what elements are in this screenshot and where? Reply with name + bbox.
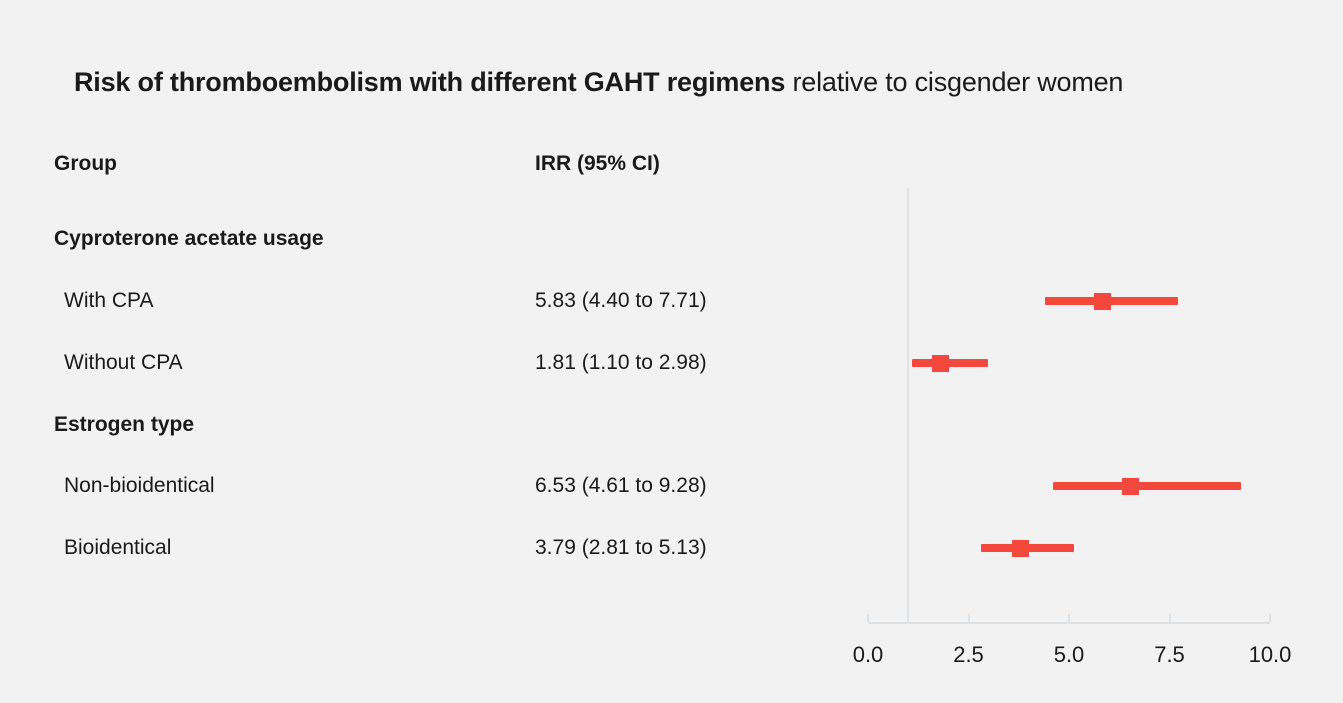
point-estimate-marker	[1122, 478, 1139, 495]
reference-line-at-1	[907, 188, 909, 622]
title-bold-segment: Risk of thromboembolism with different G…	[74, 67, 785, 97]
title-light-segment: relative to cisgender women	[785, 67, 1123, 97]
x-tick-label: 7.5	[1154, 643, 1185, 667]
forest-plot-figure: Risk of thromboembolism with different G…	[0, 0, 1343, 703]
x-tick-label: 5.0	[1054, 643, 1085, 667]
point-estimate-marker	[1012, 540, 1029, 557]
group-heading: Cyproterone acetate usage	[54, 227, 324, 251]
x-tick-label: 2.5	[953, 643, 984, 667]
confidence-interval-bar	[1045, 297, 1178, 305]
confidence-interval-bar	[1053, 482, 1241, 490]
group-heading: Estrogen type	[54, 413, 194, 437]
row-label: Non-bioidentical	[64, 474, 215, 498]
x-tick-label: 0.0	[853, 643, 884, 667]
column-header-group: Group	[54, 152, 117, 176]
x-tick-mark	[1269, 614, 1271, 622]
row-estimate-value: 3.79 (2.81 to 5.13)	[535, 536, 707, 560]
x-tick-mark	[1169, 614, 1171, 622]
row-estimate-value: 1.81 (1.10 to 2.98)	[535, 351, 707, 375]
row-label: With CPA	[64, 289, 153, 313]
row-label: Bioidentical	[64, 536, 171, 560]
confidence-interval-bar	[981, 544, 1074, 552]
row-estimate-value: 5.83 (4.40 to 7.71)	[535, 289, 707, 313]
x-tick-mark	[1068, 614, 1070, 622]
row-label: Without CPA	[64, 351, 183, 375]
point-estimate-marker	[1094, 293, 1111, 310]
row-estimate-value: 6.53 (4.61 to 9.28)	[535, 474, 707, 498]
x-tick-mark	[867, 614, 869, 622]
column-header-estimate: IRR (95% CI)	[535, 152, 660, 176]
point-estimate-marker	[932, 355, 949, 372]
x-tick-mark	[968, 614, 970, 622]
page-title: Risk of thromboembolism with different G…	[74, 64, 1123, 100]
x-axis-line	[868, 622, 1270, 624]
x-tick-label: 10.0	[1249, 643, 1292, 667]
confidence-interval-bar	[912, 359, 988, 367]
